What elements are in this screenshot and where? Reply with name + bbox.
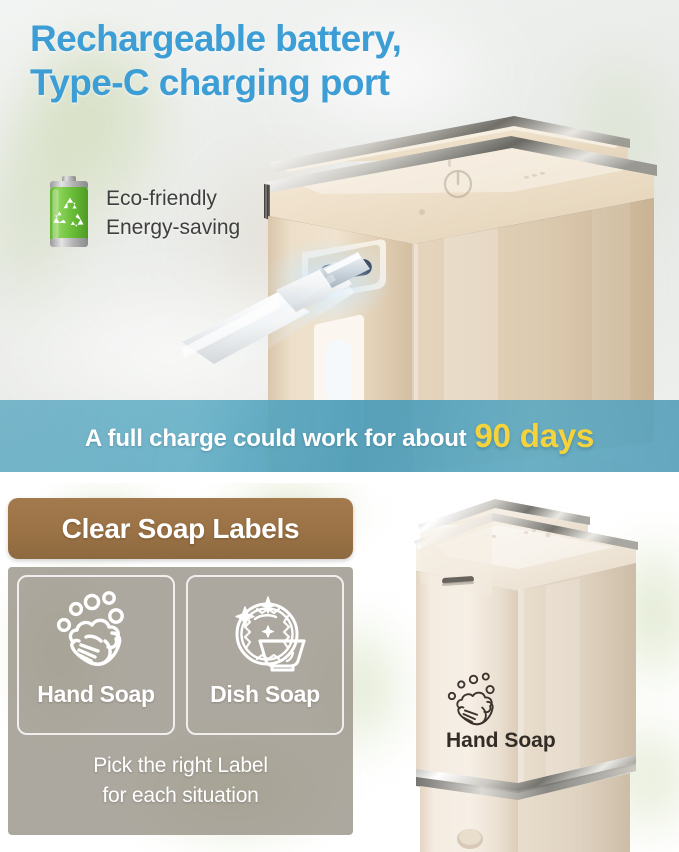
eco-line-1: Eco-friendly	[106, 184, 240, 213]
full-charge-banner: A full charge could work for about90 day…	[0, 400, 679, 472]
soap-label-card-list: Hand Soap	[17, 575, 344, 735]
headline-line-2: Type-C charging port	[30, 61, 630, 105]
soap-label-panel: Hand Soap	[8, 567, 353, 835]
green-battery-recycle-icon	[46, 176, 92, 250]
pick-label-note-line-2: for each situation	[8, 781, 353, 811]
label-card-dish-soap[interactable]: Dish Soap	[186, 575, 344, 735]
panel-clear-soap-labels: Clear Soap Labels	[0, 483, 679, 852]
pick-label-note: Pick the right Label for each situation	[8, 751, 353, 811]
eco-badge-text: Eco-friendly Energy-saving	[106, 184, 240, 242]
eco-friendly-badge: Eco-friendly Energy-saving	[46, 176, 240, 250]
headline-line-1: Rechargeable battery,	[30, 17, 630, 61]
dish-plate-bowl-sparkle-icon	[217, 587, 313, 683]
label-card-hand-soap-text: Hand Soap	[37, 681, 154, 708]
clear-soap-labels-title-text: Clear Soap Labels	[62, 513, 300, 545]
clear-soap-labels-title: Clear Soap Labels	[8, 498, 353, 559]
panel-rechargeable-battery: Rechargeable battery, Type-C charging po…	[0, 0, 679, 472]
product-feature-image: Rechargeable battery, Type-C charging po…	[0, 0, 679, 852]
hand-washing-soap-icon	[48, 587, 144, 683]
pick-label-note-line-1: Pick the right Label	[8, 751, 353, 781]
charge-banner-label: A full charge could work for about	[85, 425, 467, 452]
charge-banner-highlight: 90 days	[474, 417, 594, 454]
page-title: Rechargeable battery, Type-C charging po…	[30, 17, 630, 105]
label-card-hand-soap[interactable]: Hand Soap	[17, 575, 175, 735]
charge-banner-text: A full charge could work for about90 day…	[85, 417, 594, 455]
eco-line-2: Energy-saving	[106, 213, 240, 242]
label-card-dish-soap-text: Dish Soap	[210, 681, 320, 708]
product-photo-dispenser-hand-soap: Hand Soap	[398, 483, 673, 852]
printed-hand-soap-text: Hand Soap	[446, 729, 556, 752]
